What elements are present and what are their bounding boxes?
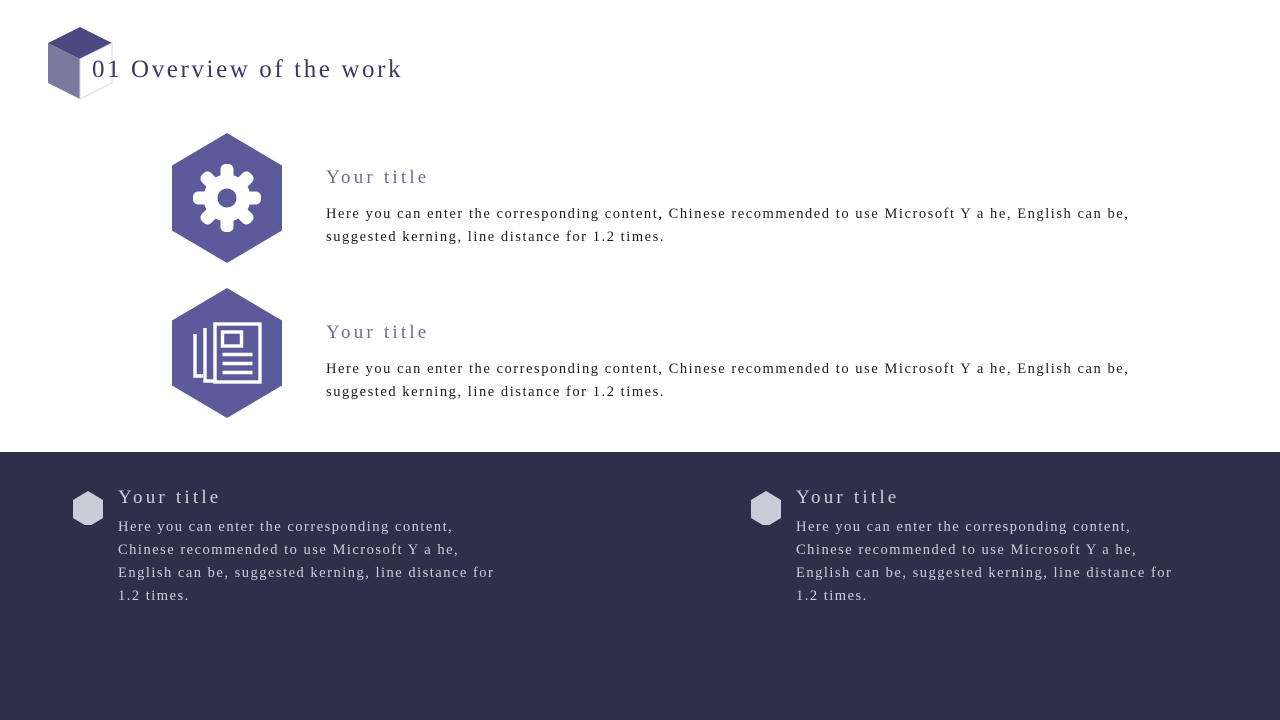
feature-row-1: Your title Here you can enter the corres…	[0, 133, 1280, 273]
bottom-text-right: Your title Here you can enter the corres…	[796, 486, 1186, 609]
documents-icon	[172, 288, 282, 418]
feature-body: Here you can enter the corresponding con…	[326, 358, 1164, 404]
bottom-body: Here you can enter the corresponding con…	[118, 516, 508, 609]
bottom-text-left: Your title Here you can enter the corres…	[118, 486, 508, 609]
feature-text-1: Your title Here you can enter the corres…	[326, 167, 1164, 249]
bottom-title: Your title	[118, 486, 508, 510]
feature-title: Your title	[326, 167, 1164, 190]
slide-header: 01 Overview of the work	[0, 0, 1280, 120]
dark-band: Your title Here you can enter the corres…	[0, 452, 1280, 720]
bottom-body: Here you can enter the corresponding con…	[796, 516, 1186, 609]
hexagon-bullet-icon	[70, 489, 106, 525]
feature-body: Here you can enter the corresponding con…	[326, 203, 1164, 249]
bottom-title: Your title	[796, 486, 1186, 510]
gear-icon	[172, 133, 282, 263]
page-title: 01 Overview of the work	[92, 56, 403, 84]
hexagon-bullet-icon	[748, 489, 784, 525]
feature-text-2: Your title Here you can enter the corres…	[326, 322, 1164, 404]
feature-row-2: Your title Here you can enter the corres…	[0, 288, 1280, 428]
slide-canvas: 01 Overview of the work	[0, 0, 1280, 720]
feature-title: Your title	[326, 322, 1164, 345]
